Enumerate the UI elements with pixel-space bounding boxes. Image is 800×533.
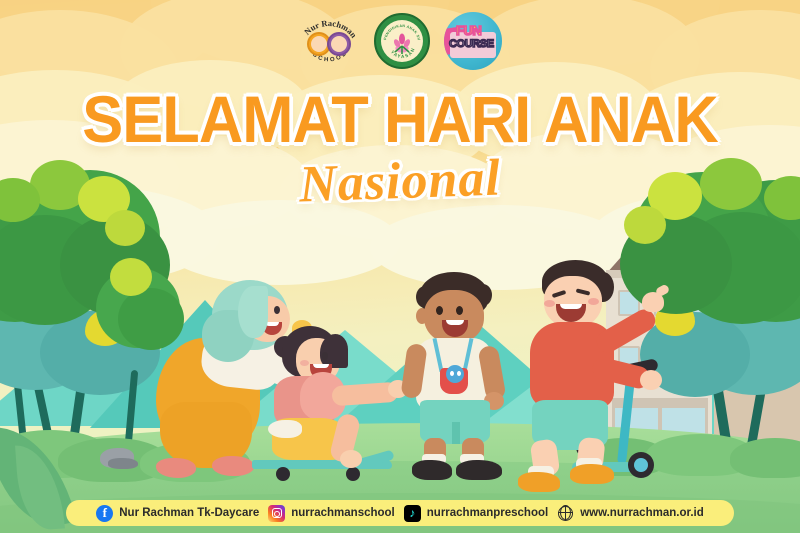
globe-icon: [557, 505, 574, 522]
course-text: COURSE: [449, 38, 494, 50]
footer-item-tiktok[interactable]: ♪ nurrachmanpreschool: [404, 505, 548, 522]
character-boy-scooter: [522, 258, 682, 483]
poster-canvas: Nur Rachman SCHOOL PENDIDIKAN ANAK SUSIL…: [0, 0, 800, 533]
footer-item-instagram[interactable]: nurrachmanschool: [268, 505, 395, 522]
rock-shadow: [108, 458, 138, 469]
logo-face-boy-skin: [311, 36, 327, 52]
tiktok-icon: ♪: [404, 505, 421, 522]
fun-text: FUN: [456, 23, 481, 38]
instagram-icon: [268, 505, 285, 522]
logo-row: Nur Rachman SCHOOL PENDIDIKAN ANAK SUSIL…: [0, 10, 800, 72]
page-title: SELAMAT HARI ANAK: [28, 86, 772, 152]
character-girl-skateboard: [248, 322, 408, 482]
instagram-label: nurrachmanschool: [291, 507, 395, 519]
lotus-icon: PENDIDIKAN ANAK SUSILA YAYASAN: [382, 21, 422, 61]
logo-nur-rachman-school[interactable]: Nur Rachman SCHOOL: [298, 12, 360, 70]
footer-item-website[interactable]: www.nurrachman.or.id: [557, 505, 704, 522]
logo-yayasan[interactable]: PENDIDIKAN ANAK SUSILA YAYASAN: [374, 13, 430, 69]
footer-item-facebook[interactable]: f Nur Rachman Tk-Daycare: [96, 505, 259, 522]
logo-yayasan-inner: PENDIDIKAN ANAK SUSILA YAYASAN: [381, 20, 423, 62]
facebook-icon: f: [96, 505, 113, 522]
tiktok-label: nurrachmanpreschool: [427, 507, 548, 519]
headline-block: SELAMAT HARI ANAK Nasional: [0, 86, 800, 208]
facebook-label: Nur Rachman Tk-Daycare: [119, 507, 259, 519]
social-footer-bar: f Nur Rachman Tk-Daycare nurrachmanschoo…: [66, 500, 734, 526]
logo-face-girl-skin: [331, 36, 347, 52]
character-boy-tshirt: [404, 272, 524, 477]
logo-fun-course[interactable]: FUN COURSE: [444, 12, 502, 70]
svg-text:YAYASAN: YAYASAN: [390, 46, 416, 59]
website-label: www.nurrachman.or.id: [580, 507, 704, 519]
